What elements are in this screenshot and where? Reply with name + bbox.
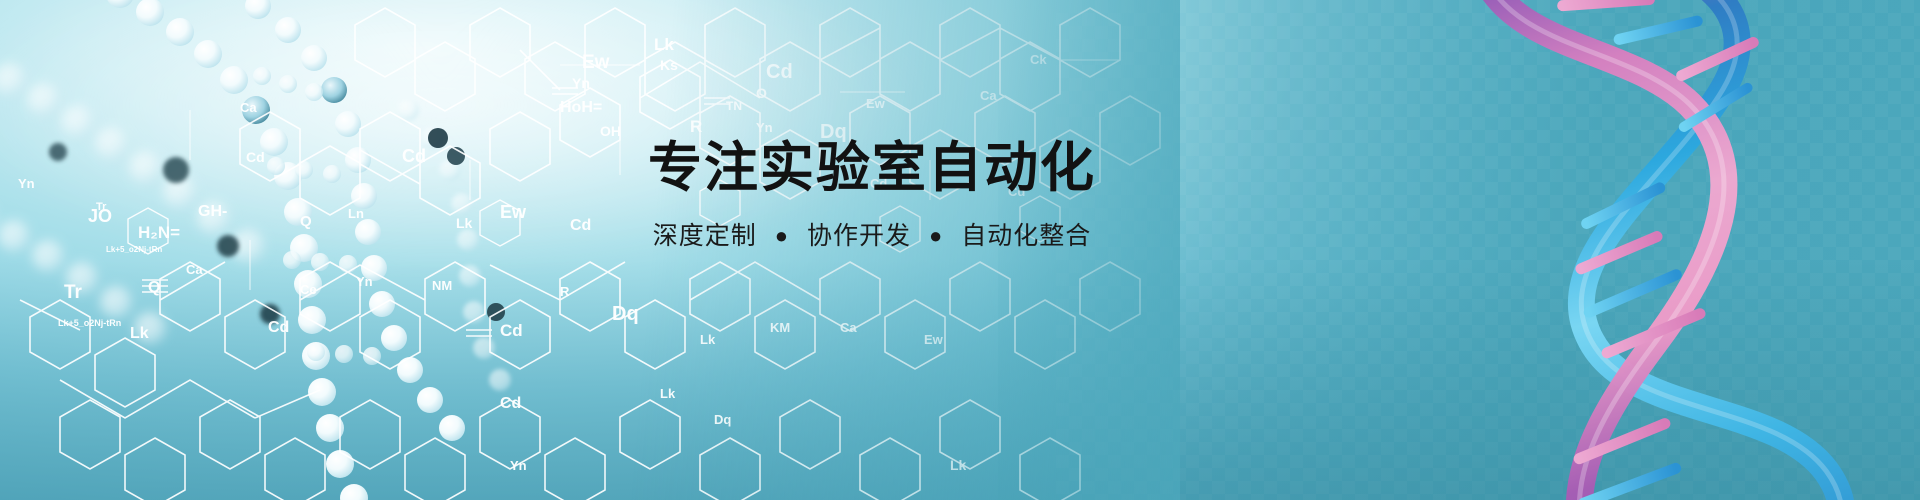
bullet-separator-icon: ● (775, 224, 789, 248)
hero-banner: .cl{stroke:#fff;stroke-width:1.6;fill:no… (0, 0, 1920, 500)
page-title: 专注实验室自动化 (612, 140, 1132, 197)
background-bottom-shade (0, 260, 1920, 500)
hero-subtitle: 深度定制 ● 协作开发 ● 自动化整合 (612, 223, 1132, 251)
hero-copy: 专注实验室自动化 深度定制 ● 协作开发 ● 自动化整合 (612, 140, 1132, 251)
subtitle-item-2: 协作开发 (807, 222, 911, 250)
subtitle-item-3: 自动化整合 (961, 222, 1091, 250)
bullet-separator-icon: ● (929, 224, 943, 248)
subtitle-item-1: 深度定制 (653, 222, 757, 250)
